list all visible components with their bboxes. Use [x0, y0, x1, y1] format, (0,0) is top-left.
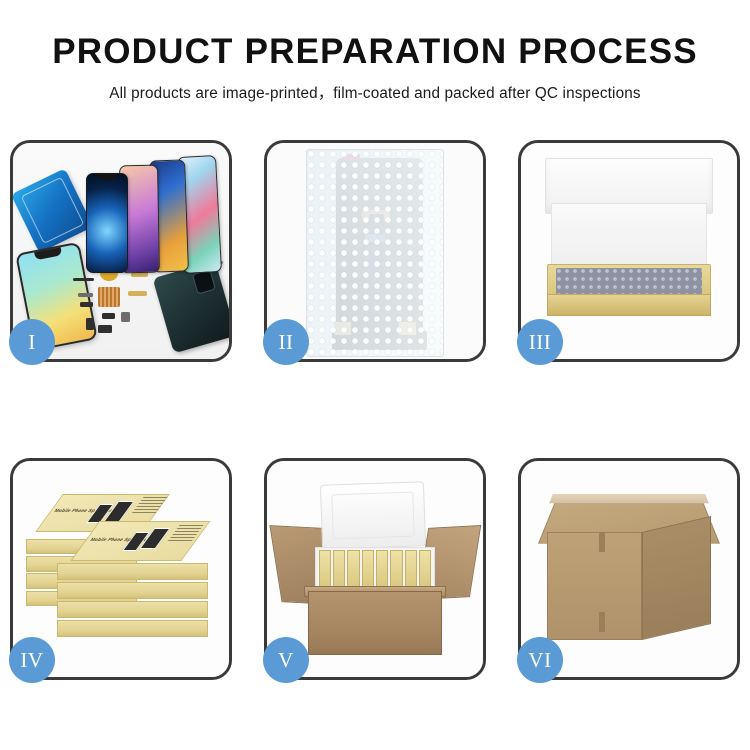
step-panel-6[interactable]: VI [518, 458, 740, 680]
kraft-box-front-wall [547, 294, 711, 316]
step-panel-4[interactable]: Mobile Phone Spare Parts Mobile Phone Sp… [10, 458, 232, 680]
process-step-grid: I II [10, 140, 740, 712]
kraft-box-edge-6 [57, 582, 208, 599]
kraft-box-edge-8 [57, 620, 208, 637]
step-panel-5[interactable]: V [264, 458, 486, 680]
step-badge-1: I [9, 319, 55, 365]
blue-display-panel-icon [13, 168, 93, 253]
page-subtitle: All products are image-printed，film-coat… [0, 81, 750, 103]
step-badge-4: IV [9, 637, 55, 683]
connector-icon [78, 293, 94, 298]
foam-lid [320, 481, 426, 549]
carton-seam-bottom [599, 612, 605, 631]
battery-icon [121, 312, 130, 322]
step-panel-2[interactable]: II [264, 140, 486, 362]
packing-tape [549, 494, 708, 503]
poster-root: PRODUCT PREPARATION PROCESS All products… [0, 0, 750, 750]
step-badge-3: III [517, 319, 563, 365]
carton-seam-top [599, 532, 605, 551]
kraft-box-edge-7 [57, 601, 208, 618]
sim-tray-icon [86, 318, 94, 330]
step-badge-5: V [263, 637, 309, 683]
step-badge-2: II [263, 319, 309, 365]
step-badge-6: VI [517, 637, 563, 683]
carton-front-face [547, 532, 642, 640]
phone-screen-1 [86, 173, 128, 273]
carton-side-face [642, 516, 711, 640]
button-part-icon [102, 313, 114, 319]
phone-screen-fan [86, 160, 220, 272]
flex-cable-icon-2 [128, 291, 147, 296]
packed-kraft-boxes [319, 550, 431, 591]
step-panel-1[interactable]: I [10, 140, 232, 362]
vibration-motor-icon [98, 325, 111, 333]
camera-module-icon [80, 302, 93, 307]
kraft-box-stack: Mobile Phone Spare Parts Mobile Phone Sp… [22, 487, 221, 660]
poster-header: PRODUCT PREPARATION PROCESS All products… [0, 0, 750, 103]
logic-board-icon [98, 287, 120, 307]
page-title: PRODUCT PREPARATION PROCESS [0, 34, 750, 71]
carton-body [308, 591, 442, 656]
earpiece-mesh-icon [73, 278, 94, 281]
bubble-wrap-bag [306, 149, 444, 356]
kraft-box-edge-5 [57, 563, 208, 580]
step-panel-3[interactable]: III [518, 140, 740, 362]
